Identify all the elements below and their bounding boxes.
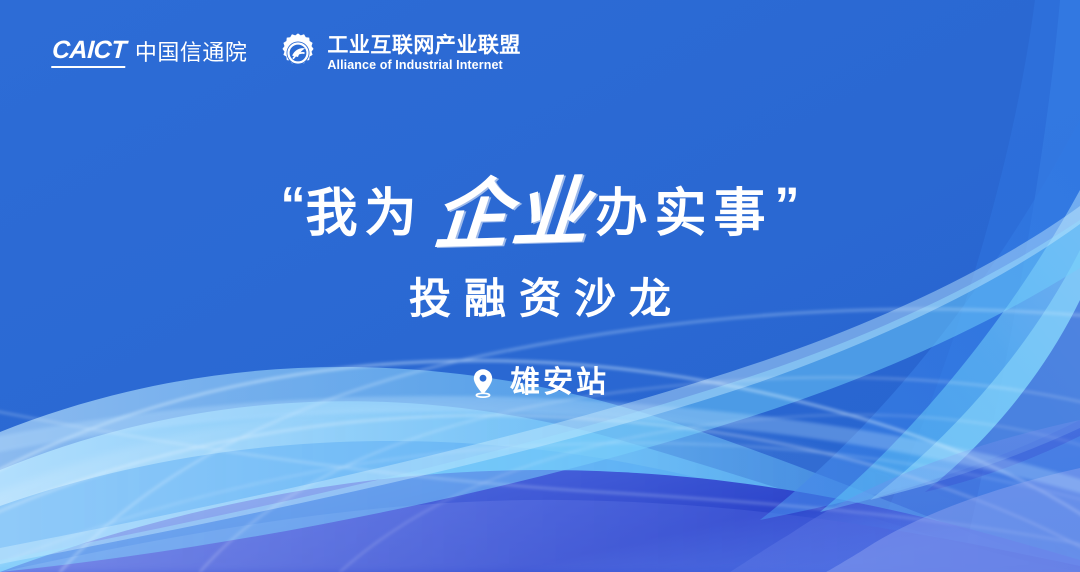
- venue-row: 雄安站: [0, 368, 1080, 398]
- alliance-name-en: Alliance of Industrial Internet: [327, 59, 521, 72]
- headline-close-quote: ”: [775, 180, 800, 230]
- alliance-name-cn: 工业互联网产业联盟: [327, 35, 521, 57]
- headline-open-quote: “: [280, 180, 305, 230]
- headline-part-one: 我为: [305, 188, 423, 240]
- caict-logo: CAICT 中国信通院: [52, 38, 247, 68]
- caict-name-cn: 中国信通院: [135, 42, 248, 64]
- event-banner: CAICT 中国信通院 工业互联网产业联盟 Alliance of Indust…: [0, 0, 1080, 572]
- alliance-text: 工业互联网产业联盟 Alliance of Industrial Interne…: [327, 35, 521, 72]
- headline: “ 我为 企业 办实事 ”: [0, 168, 1080, 260]
- alliance-logo: 工业互联网产业联盟 Alliance of Industrial Interne…: [277, 32, 521, 74]
- gear-swirl-icon: [277, 32, 319, 74]
- logo-bar: CAICT 中国信通院 工业互联网产业联盟 Alliance of Indust…: [52, 32, 521, 74]
- location-pin-icon: [471, 368, 495, 398]
- headline-part-two: 办实事: [596, 188, 773, 240]
- venue-label: 雄安站: [507, 368, 609, 398]
- headline-brush-word: 企业: [430, 174, 592, 254]
- subtitle: 投融资沙龙: [0, 278, 1080, 320]
- caict-wordmark-icon: CAICT: [51, 38, 126, 68]
